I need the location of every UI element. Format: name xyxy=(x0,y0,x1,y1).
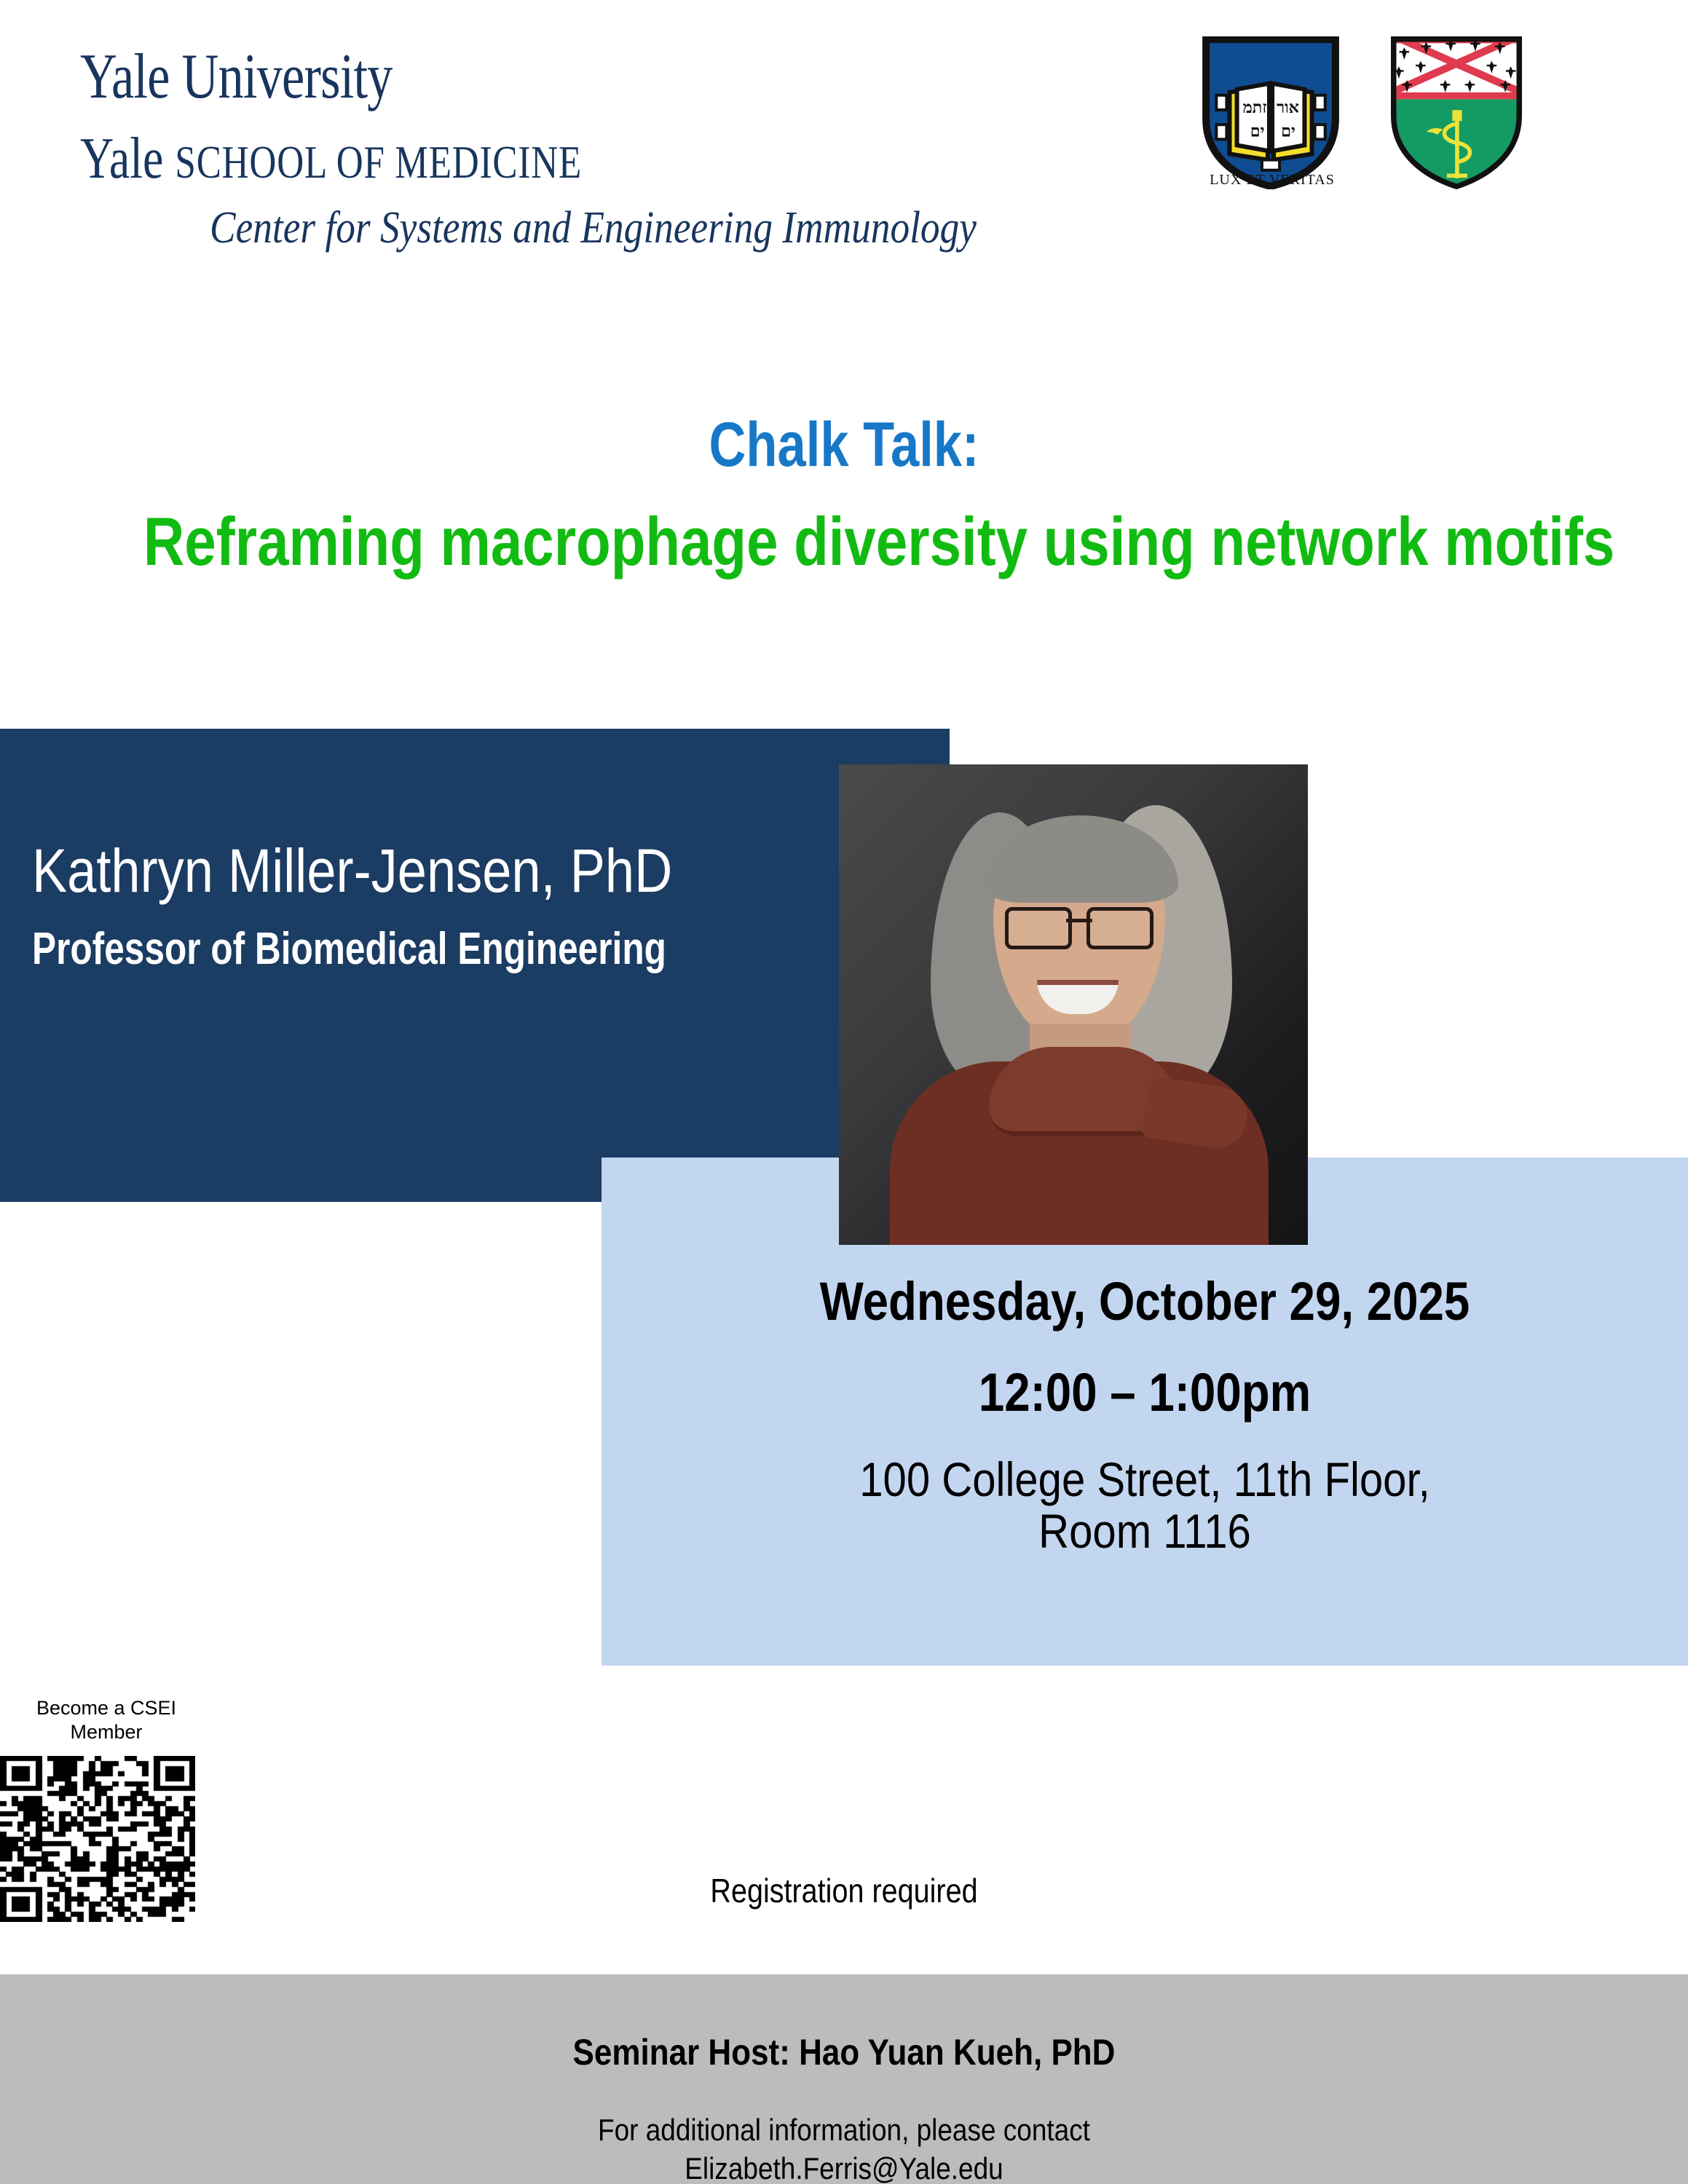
svg-text:ים: ים xyxy=(1281,122,1295,140)
event-location-line1: 100 College Street, 11th Floor, xyxy=(859,1452,1429,1506)
registration-note: Registration required xyxy=(118,1871,1569,1910)
speaker-title: Professor of Biomedical Engineering xyxy=(32,923,666,975)
photo-lens-left xyxy=(1005,907,1072,949)
photo-lens-right xyxy=(1086,907,1153,949)
svg-text:ים: ים xyxy=(1250,122,1265,140)
event-location-line2: Room 1116 xyxy=(1038,1504,1251,1558)
qr-caption-line1: Become a CSEI xyxy=(36,1697,176,1719)
photo-glasses xyxy=(1005,907,1153,943)
lux-et-veritas-banner: LUX ET VERITAS xyxy=(1188,169,1356,194)
center-name: Center for Systems and Engineering Immun… xyxy=(210,205,977,250)
ysm-name: SCHOOL OF MEDICINE xyxy=(175,136,582,188)
event-date: Wednesday, October 29, 2025 xyxy=(677,1270,1612,1332)
yale-school-of-medicine-shield-icon xyxy=(1387,36,1526,189)
footer-contact-line1: For additional information, please conta… xyxy=(101,2111,1587,2150)
event-location: 100 College Street, 11th Floor, Room 111… xyxy=(667,1454,1623,1558)
talk-title: Reframing macrophage diversity using net… xyxy=(143,502,1545,581)
qr-caption: Become a CSEI Member xyxy=(7,1696,205,1744)
event-time: 12:00 – 1:00pm xyxy=(677,1361,1612,1423)
yale-shield-icon: זתמ אור ים ים xyxy=(1194,36,1347,189)
yale-school-of-medicine-wordmark: Yale SCHOOL OF MEDICINE xyxy=(80,130,582,188)
svg-text:אור: אור xyxy=(1277,98,1299,116)
seminar-host: Seminar Host: Hao Yuan Kueh, PhD xyxy=(101,2031,1587,2073)
footer-contact-email: Elizabeth.Ferris@Yale.edu xyxy=(101,2150,1587,2184)
footer-contact: For additional information, please conta… xyxy=(101,2111,1587,2184)
qr-caption-line2: Member xyxy=(70,1721,142,1743)
talk-kicker: Chalk Talk: xyxy=(152,409,1537,481)
ysm-prefix: Yale xyxy=(80,127,163,191)
seminar-flyer: Yale University Yale SCHOOL OF MEDICINE … xyxy=(0,0,1688,2184)
speaker-photo xyxy=(839,764,1308,1245)
speaker-name: Kathryn Miller-Jensen, PhD xyxy=(32,836,672,906)
yale-university-wordmark: Yale University xyxy=(80,45,393,109)
svg-text:זתמ: זתמ xyxy=(1243,98,1267,116)
event-details: Wednesday, October 29, 2025 12:00 – 1:00… xyxy=(602,1270,1688,1558)
